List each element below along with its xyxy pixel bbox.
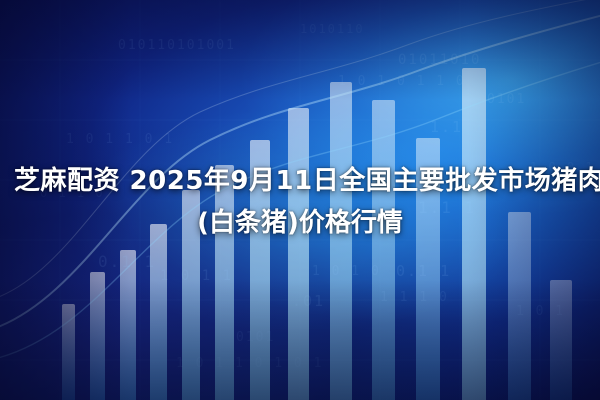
promo-banner-image: 0101101010011010110010110101 0 1 0 1 1 0… [0,0,600,400]
headline-text: 芝麻配资 2025年9月11日全国主要批发市场猪肉 (白条猪)价格行情 [0,160,600,244]
headline-line-2: (白条猪)价格行情 [14,202,586,244]
headline-line-1: 芝麻配资 2025年9月11日全国主要批发市场猪肉 [14,160,586,202]
